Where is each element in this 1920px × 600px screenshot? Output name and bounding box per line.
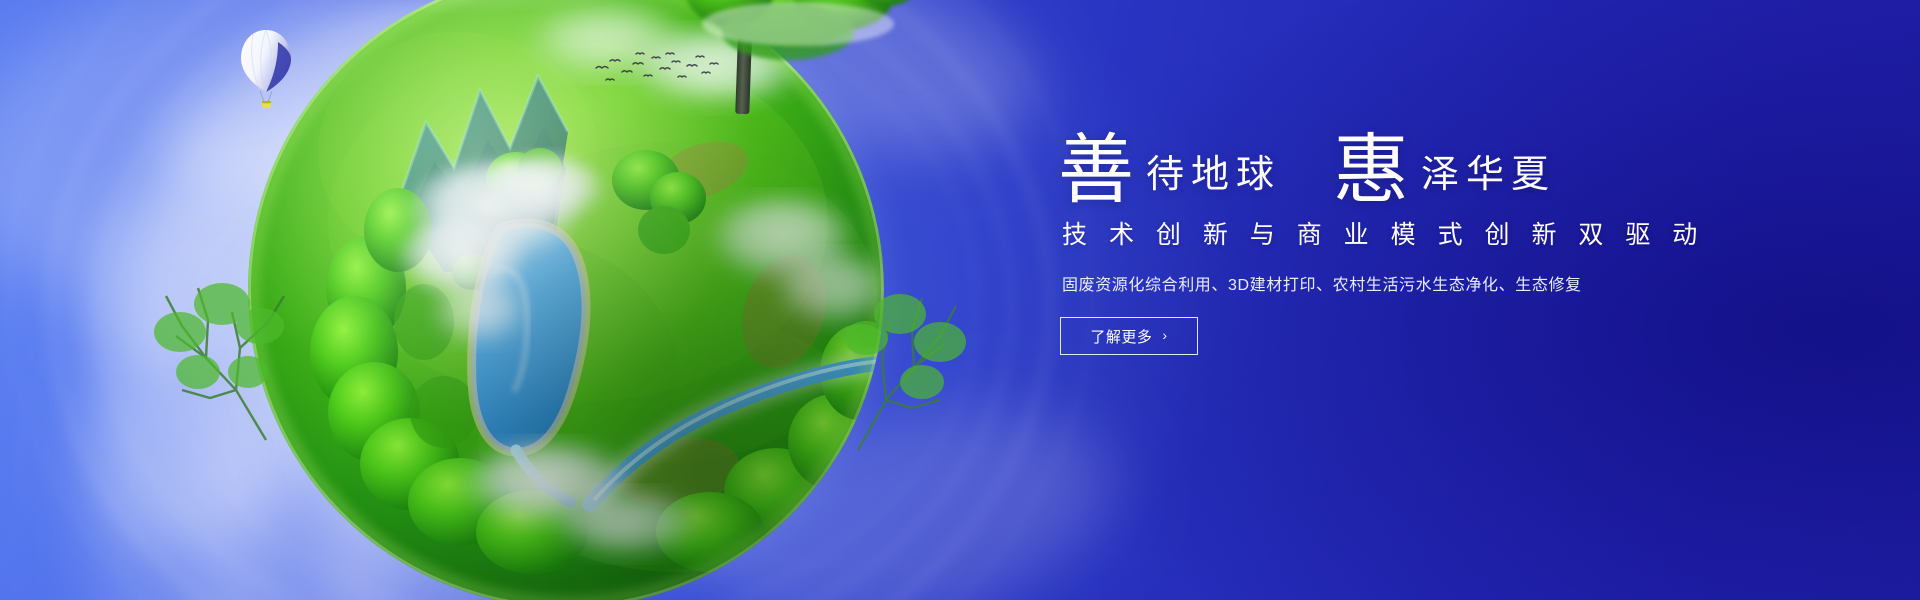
headline-small-text-2: 泽华夏 xyxy=(1409,155,1556,193)
hero-content: 善 待地球 惠 泽华夏 技 术 创 新 与 商 业 模 式 创 新 双 驱 动 … xyxy=(1058,128,1758,355)
tiny-planet-globe xyxy=(248,0,884,600)
headline: 善 待地球 惠 泽华夏 xyxy=(1058,128,1758,199)
learn-more-label: 了解更多 xyxy=(1090,326,1152,347)
headline-group-1: 善 待地球 xyxy=(1058,128,1281,199)
hero-banner: 善 待地球 惠 泽华夏 技 术 创 新 与 商 业 模 式 创 新 双 驱 动 … xyxy=(0,0,1920,600)
headline-group-2: 惠 泽华夏 xyxy=(1333,128,1556,199)
headline-big-char-1: 善 xyxy=(1058,134,1134,205)
description: 固废资源化综合利用、3D建材打印、农村生活污水生态净化、生态修复 xyxy=(1062,271,1758,295)
headline-big-char-2: 惠 xyxy=(1333,134,1409,205)
globe-sphere xyxy=(248,0,884,600)
chevron-right-icon: › xyxy=(1162,328,1167,342)
subtitle: 技 术 创 新 与 商 业 模 式 创 新 双 驱 动 xyxy=(1062,215,1758,251)
bird-flock-icon xyxy=(592,52,722,86)
hot-air-balloon-icon xyxy=(238,28,294,114)
learn-more-button[interactable]: 了解更多 › xyxy=(1060,317,1198,355)
headline-small-text-1: 待地球 xyxy=(1134,155,1281,193)
